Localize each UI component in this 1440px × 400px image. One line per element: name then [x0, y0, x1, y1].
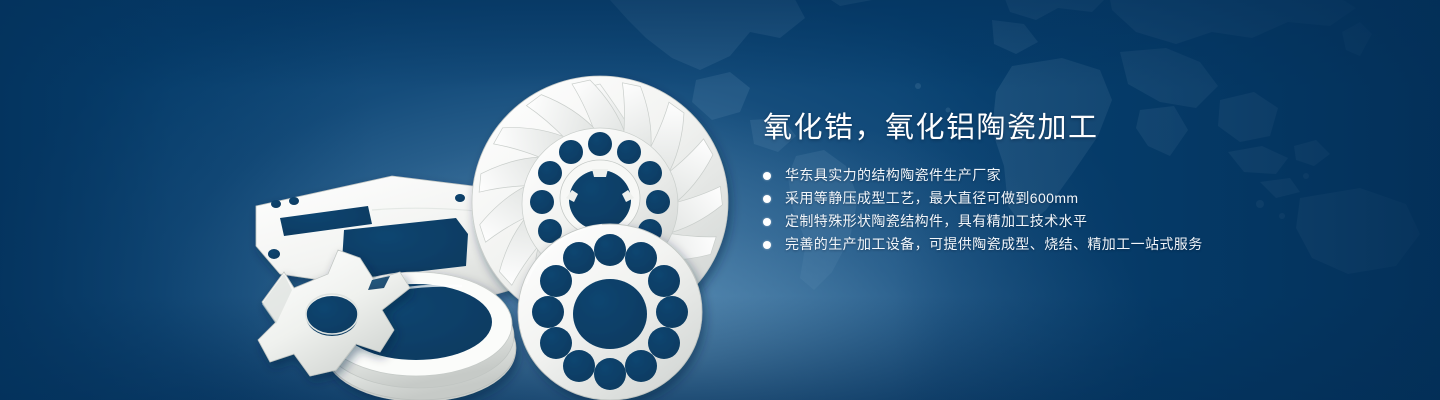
- product-photo-collage: [232, 34, 716, 388]
- feature-list: 华东具实力的结构陶瓷件生产厂家 采用等静压成型工艺，最大直径可做到600mm 定…: [763, 164, 1383, 256]
- bullet-icon: [763, 218, 771, 226]
- list-item: 采用等静压成型工艺，最大直径可做到600mm: [763, 187, 1383, 210]
- promo-banner: 氧化锆，氧化铝陶瓷加工 华东具实力的结构陶瓷件生产厂家 采用等静压成型工艺，最大…: [0, 0, 1440, 400]
- list-item: 华东具实力的结构陶瓷件生产厂家: [763, 164, 1383, 187]
- bullet-icon: [763, 195, 771, 203]
- list-item: 定制特殊形状陶瓷结构件，具有精加工技术水平: [763, 210, 1383, 233]
- bullet-icon: [763, 172, 771, 180]
- banner-text-block: 氧化锆，氧化铝陶瓷加工 华东具实力的结构陶瓷件生产厂家 采用等静压成型工艺，最大…: [763, 108, 1383, 256]
- feature-text: 华东具实力的结构陶瓷件生产厂家: [785, 164, 1001, 187]
- list-item: 完善的生产加工设备，可提供陶瓷成型、烧结、精加工一站式服务: [763, 233, 1383, 256]
- feature-text: 定制特殊形状陶瓷结构件，具有精加工技术水平: [785, 210, 1087, 233]
- page-title: 氧化锆，氧化铝陶瓷加工: [763, 108, 1383, 148]
- ceramic-perforated-ring-disc: [518, 224, 702, 400]
- feature-text: 采用等静压成型工艺，最大直径可做到600mm: [785, 187, 1078, 210]
- feature-text: 完善的生产加工设备，可提供陶瓷成型、烧结、精加工一站式服务: [785, 233, 1203, 256]
- bullet-icon: [763, 241, 771, 249]
